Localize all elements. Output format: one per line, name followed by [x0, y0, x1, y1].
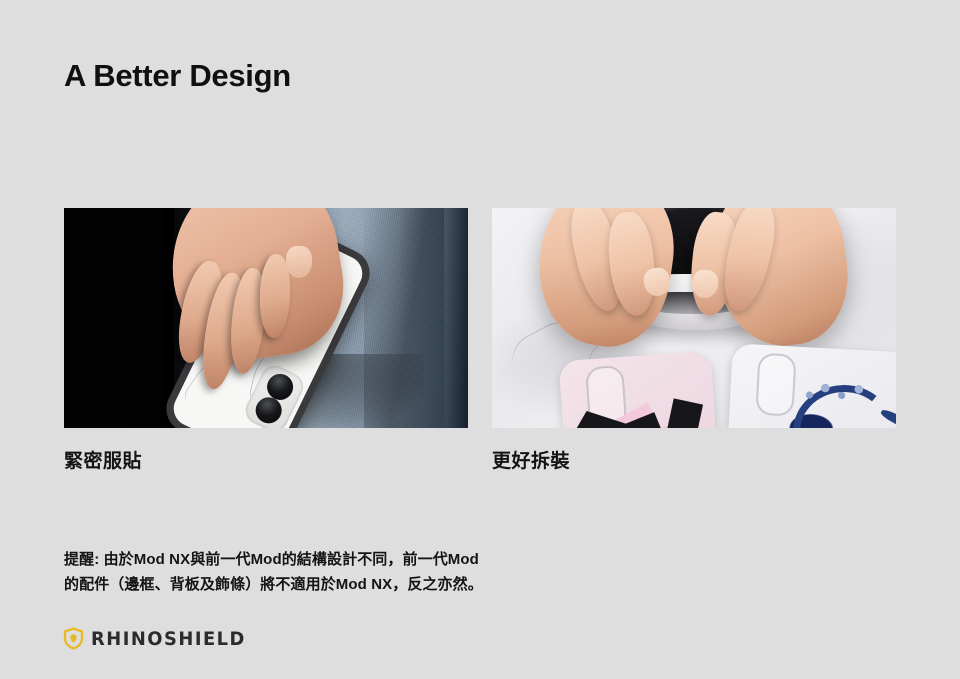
- compatibility-note: 提醒: 由於Mod NX與前一代Mod的結構設計不同，前一代Mod 的配件（邊框…: [64, 547, 604, 597]
- wave-pattern: [781, 380, 896, 428]
- pattern-shape: [662, 398, 703, 428]
- brand-logo: RHINOSHIELD: [63, 627, 256, 650]
- caption-easy-swap: 更好拆裝: [492, 448, 570, 476]
- slide-canvas: A Better Design: [0, 0, 960, 679]
- shield-icon: [63, 627, 84, 650]
- note-line-1: 提醒: 由於Mod NX與前一代Mod的結構設計不同，前一代Mod: [64, 547, 604, 572]
- panel-tight-fit-image: [64, 208, 468, 428]
- caption-tight-fit: 緊密服貼: [64, 448, 142, 476]
- panel-easy-swap-image: [492, 208, 896, 428]
- back-plate-geometric: [559, 351, 718, 428]
- fingernail: [286, 246, 312, 278]
- back-plate-great-wave: [727, 343, 896, 428]
- note-line-2: 的配件（邊框、背板及飾條）將不適用於Mod NX，反之亦然。: [64, 572, 604, 597]
- page-title: A Better Design: [64, 56, 291, 96]
- wave-foam: [802, 379, 873, 409]
- brand-wordmark: RHINOSHIELD: [91, 628, 246, 650]
